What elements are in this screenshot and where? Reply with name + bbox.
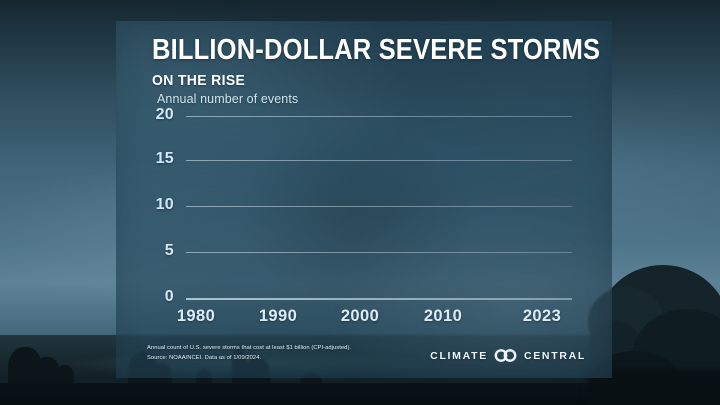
y-tick-label: 20 bbox=[148, 106, 174, 124]
screenshot-stage: BILLION-DOLLAR SEVERE STORMS ON THE RISE… bbox=[0, 0, 720, 405]
x-tick-label: 1990 bbox=[259, 307, 297, 326]
x-tick-label: 2010 bbox=[424, 307, 462, 326]
plot-area: 20 15 10 5 0 bbox=[152, 116, 572, 301]
y-axis-caption: Annual number of events bbox=[157, 92, 298, 106]
gridline-row-10: 10 bbox=[152, 206, 572, 207]
gridline-row-0: 0 bbox=[152, 298, 572, 299]
two-interlocking-rings-icon bbox=[493, 349, 519, 362]
gridline-row-20: 20 bbox=[152, 116, 572, 117]
gridline-row-5: 5 bbox=[152, 252, 572, 253]
logo-word-left: CLIMATE bbox=[430, 350, 488, 362]
y-tick-label: 5 bbox=[148, 242, 174, 260]
x-axis: 1980 1990 2000 2010 2023 bbox=[152, 307, 572, 331]
gridline bbox=[186, 206, 572, 207]
chart-panel: BILLION-DOLLAR SEVERE STORMS ON THE RISE… bbox=[116, 21, 612, 378]
x-tick-label: 2000 bbox=[341, 307, 379, 326]
chart-subtitle: ON THE RISE bbox=[152, 72, 245, 89]
gridline-row-15: 15 bbox=[152, 160, 572, 161]
x-tick-label: 1980 bbox=[177, 307, 215, 326]
y-tick-label: 10 bbox=[148, 196, 174, 214]
source-note: Annual count of U.S. severe storms that … bbox=[147, 343, 351, 363]
source-line-1: Annual count of U.S. severe storms that … bbox=[147, 343, 351, 353]
x-tick-label: 2023 bbox=[523, 307, 561, 326]
y-tick-label: 15 bbox=[148, 150, 174, 168]
gridline bbox=[186, 160, 572, 161]
source-line-2: Source: NOAA/NCEI. Data as of 1/09/2024. bbox=[147, 353, 351, 363]
climate-central-logo: CLIMATE CENTRAL bbox=[430, 349, 586, 362]
gridline bbox=[186, 252, 572, 253]
chart-title: BILLION-DOLLAR SEVERE STORMS bbox=[152, 36, 600, 65]
y-tick-label: 0 bbox=[148, 288, 174, 306]
logo-word-right: CENTRAL bbox=[524, 350, 586, 362]
axis-baseline bbox=[186, 298, 572, 300]
gridline bbox=[186, 116, 572, 117]
